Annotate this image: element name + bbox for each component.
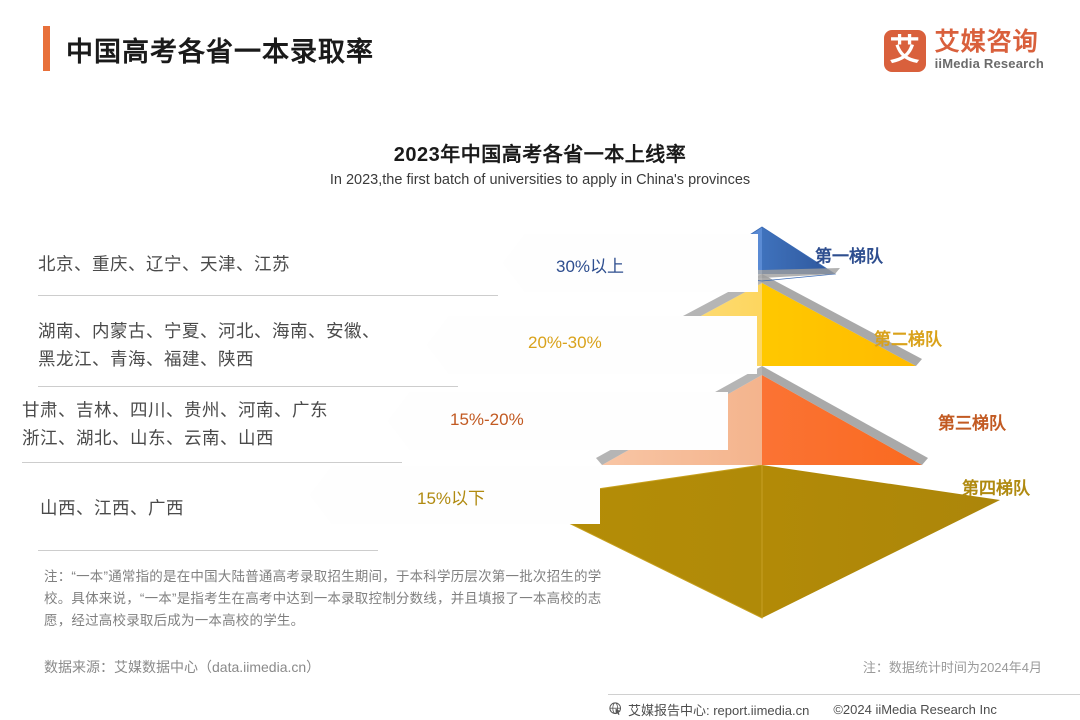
provinces-tier-2: 湖南、内蒙古、宁夏、河北、海南、安徽、 黑龙江、青海、福建、陕西	[38, 317, 380, 373]
logo-name-cn: 艾媒咨询	[935, 29, 1044, 55]
brand-logo: 艾 艾媒咨询 iiMedia Research	[884, 24, 1044, 78]
rate-label-tier-2: 20%-30%	[528, 333, 602, 353]
rate-label-tier-1: 30%以上	[556, 252, 624, 277]
footnote: 注：“一本”通常指的是在中国大陆普通高考录取招生期间，于本科学历层次第一批次招生…	[44, 566, 604, 632]
tier-label-4: 第四梯队	[962, 474, 1030, 499]
chart-title: 2023年中国高考各省一本上线率	[0, 138, 1080, 167]
rate-label-tier-4: 15%以下	[417, 484, 485, 509]
tier-label-3: 第三梯队	[938, 409, 1006, 434]
logo-name-en: iiMedia Research	[935, 56, 1044, 73]
chart-subtitle: In 2023,the first batch of universities …	[0, 172, 1080, 188]
rate-banner-tier-3	[388, 392, 728, 450]
globe-cursor-icon	[608, 702, 623, 717]
logo-text: 艾媒咨询 iiMedia Research	[935, 29, 1044, 72]
infographic-page: 中国高考各省一本录取率 艾 艾媒咨询 iiMedia Research 2023…	[0, 0, 1080, 720]
data-source: 数据来源：艾媒数据中心（data.iimedia.cn）	[44, 657, 320, 677]
list-divider-1	[38, 295, 498, 296]
tier-label-2: 第二梯队	[874, 325, 942, 350]
header: 中国高考各省一本录取率 艾 艾媒咨询 iiMedia Research	[0, 0, 1080, 100]
list-divider-2	[38, 386, 458, 387]
logo-mark-icon: 艾	[884, 30, 926, 72]
copyright-text: ©2024 iiMedia Research Inc	[833, 702, 997, 717]
provinces-tier-4: 山西、江西、广西	[40, 494, 184, 522]
tier-label-1: 第一梯队	[815, 242, 883, 267]
provinces-tier-1: 北京、重庆、辽宁、天津、江苏	[38, 250, 290, 278]
list-divider-4	[38, 550, 378, 551]
provinces-tier-3: 甘肃、吉林、四川、贵州、河南、广东 浙江、湖北、山东、云南、山西	[22, 396, 328, 452]
list-divider-3	[22, 462, 402, 463]
title-accent-bar	[43, 26, 50, 71]
footer-bar: 艾媒报告中心: report.iimedia.cn ©2024 iiMedia …	[608, 694, 1080, 720]
statistics-note: 注：数据统计时间为2024年4月	[863, 657, 1042, 676]
rate-banner-tier-1	[503, 234, 758, 292]
page-title: 中国高考各省一本录取率	[66, 30, 374, 69]
rate-label-tier-3: 15%-20%	[450, 410, 524, 430]
report-center-link[interactable]: 艾媒报告中心: report.iimedia.cn	[628, 700, 809, 719]
